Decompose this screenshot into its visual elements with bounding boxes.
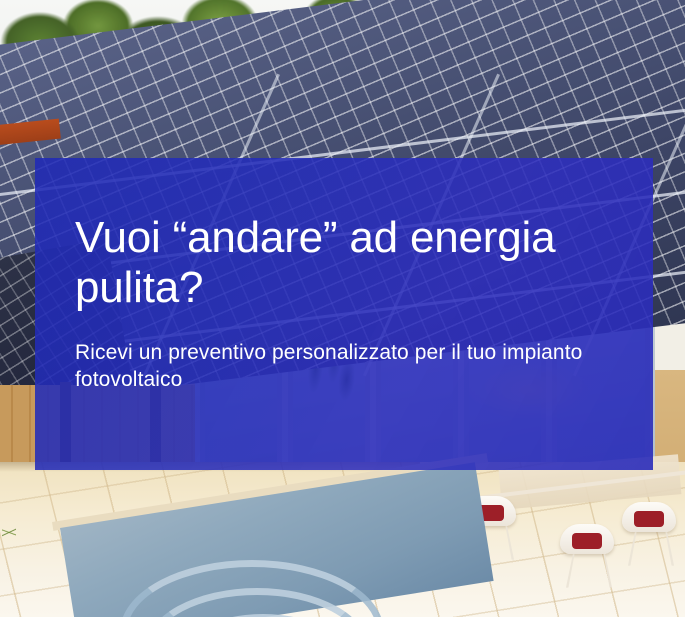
patio-chair — [622, 502, 676, 536]
hero-overlay-panel: Vuoi “andare” ad energia pulita? Ricevi … — [35, 158, 653, 470]
hero-subheadline: Ricevi un preventivo personalizzato per … — [75, 339, 615, 393]
hero-text-block: Vuoi “andare” ad energia pulita? Ricevi … — [75, 213, 615, 393]
hero-screenshot: Vuoi “andare” ad energia pulita? Ricevi … — [0, 0, 685, 617]
chair-legs — [566, 554, 612, 587]
hero-headline: Vuoi “andare” ad energia pulita? — [75, 213, 615, 313]
chair-legs — [628, 532, 674, 565]
chair-cushion — [572, 533, 602, 549]
grass-sprig — [2, 522, 16, 542]
patio-chair — [560, 524, 614, 558]
chair-cushion — [634, 511, 664, 527]
